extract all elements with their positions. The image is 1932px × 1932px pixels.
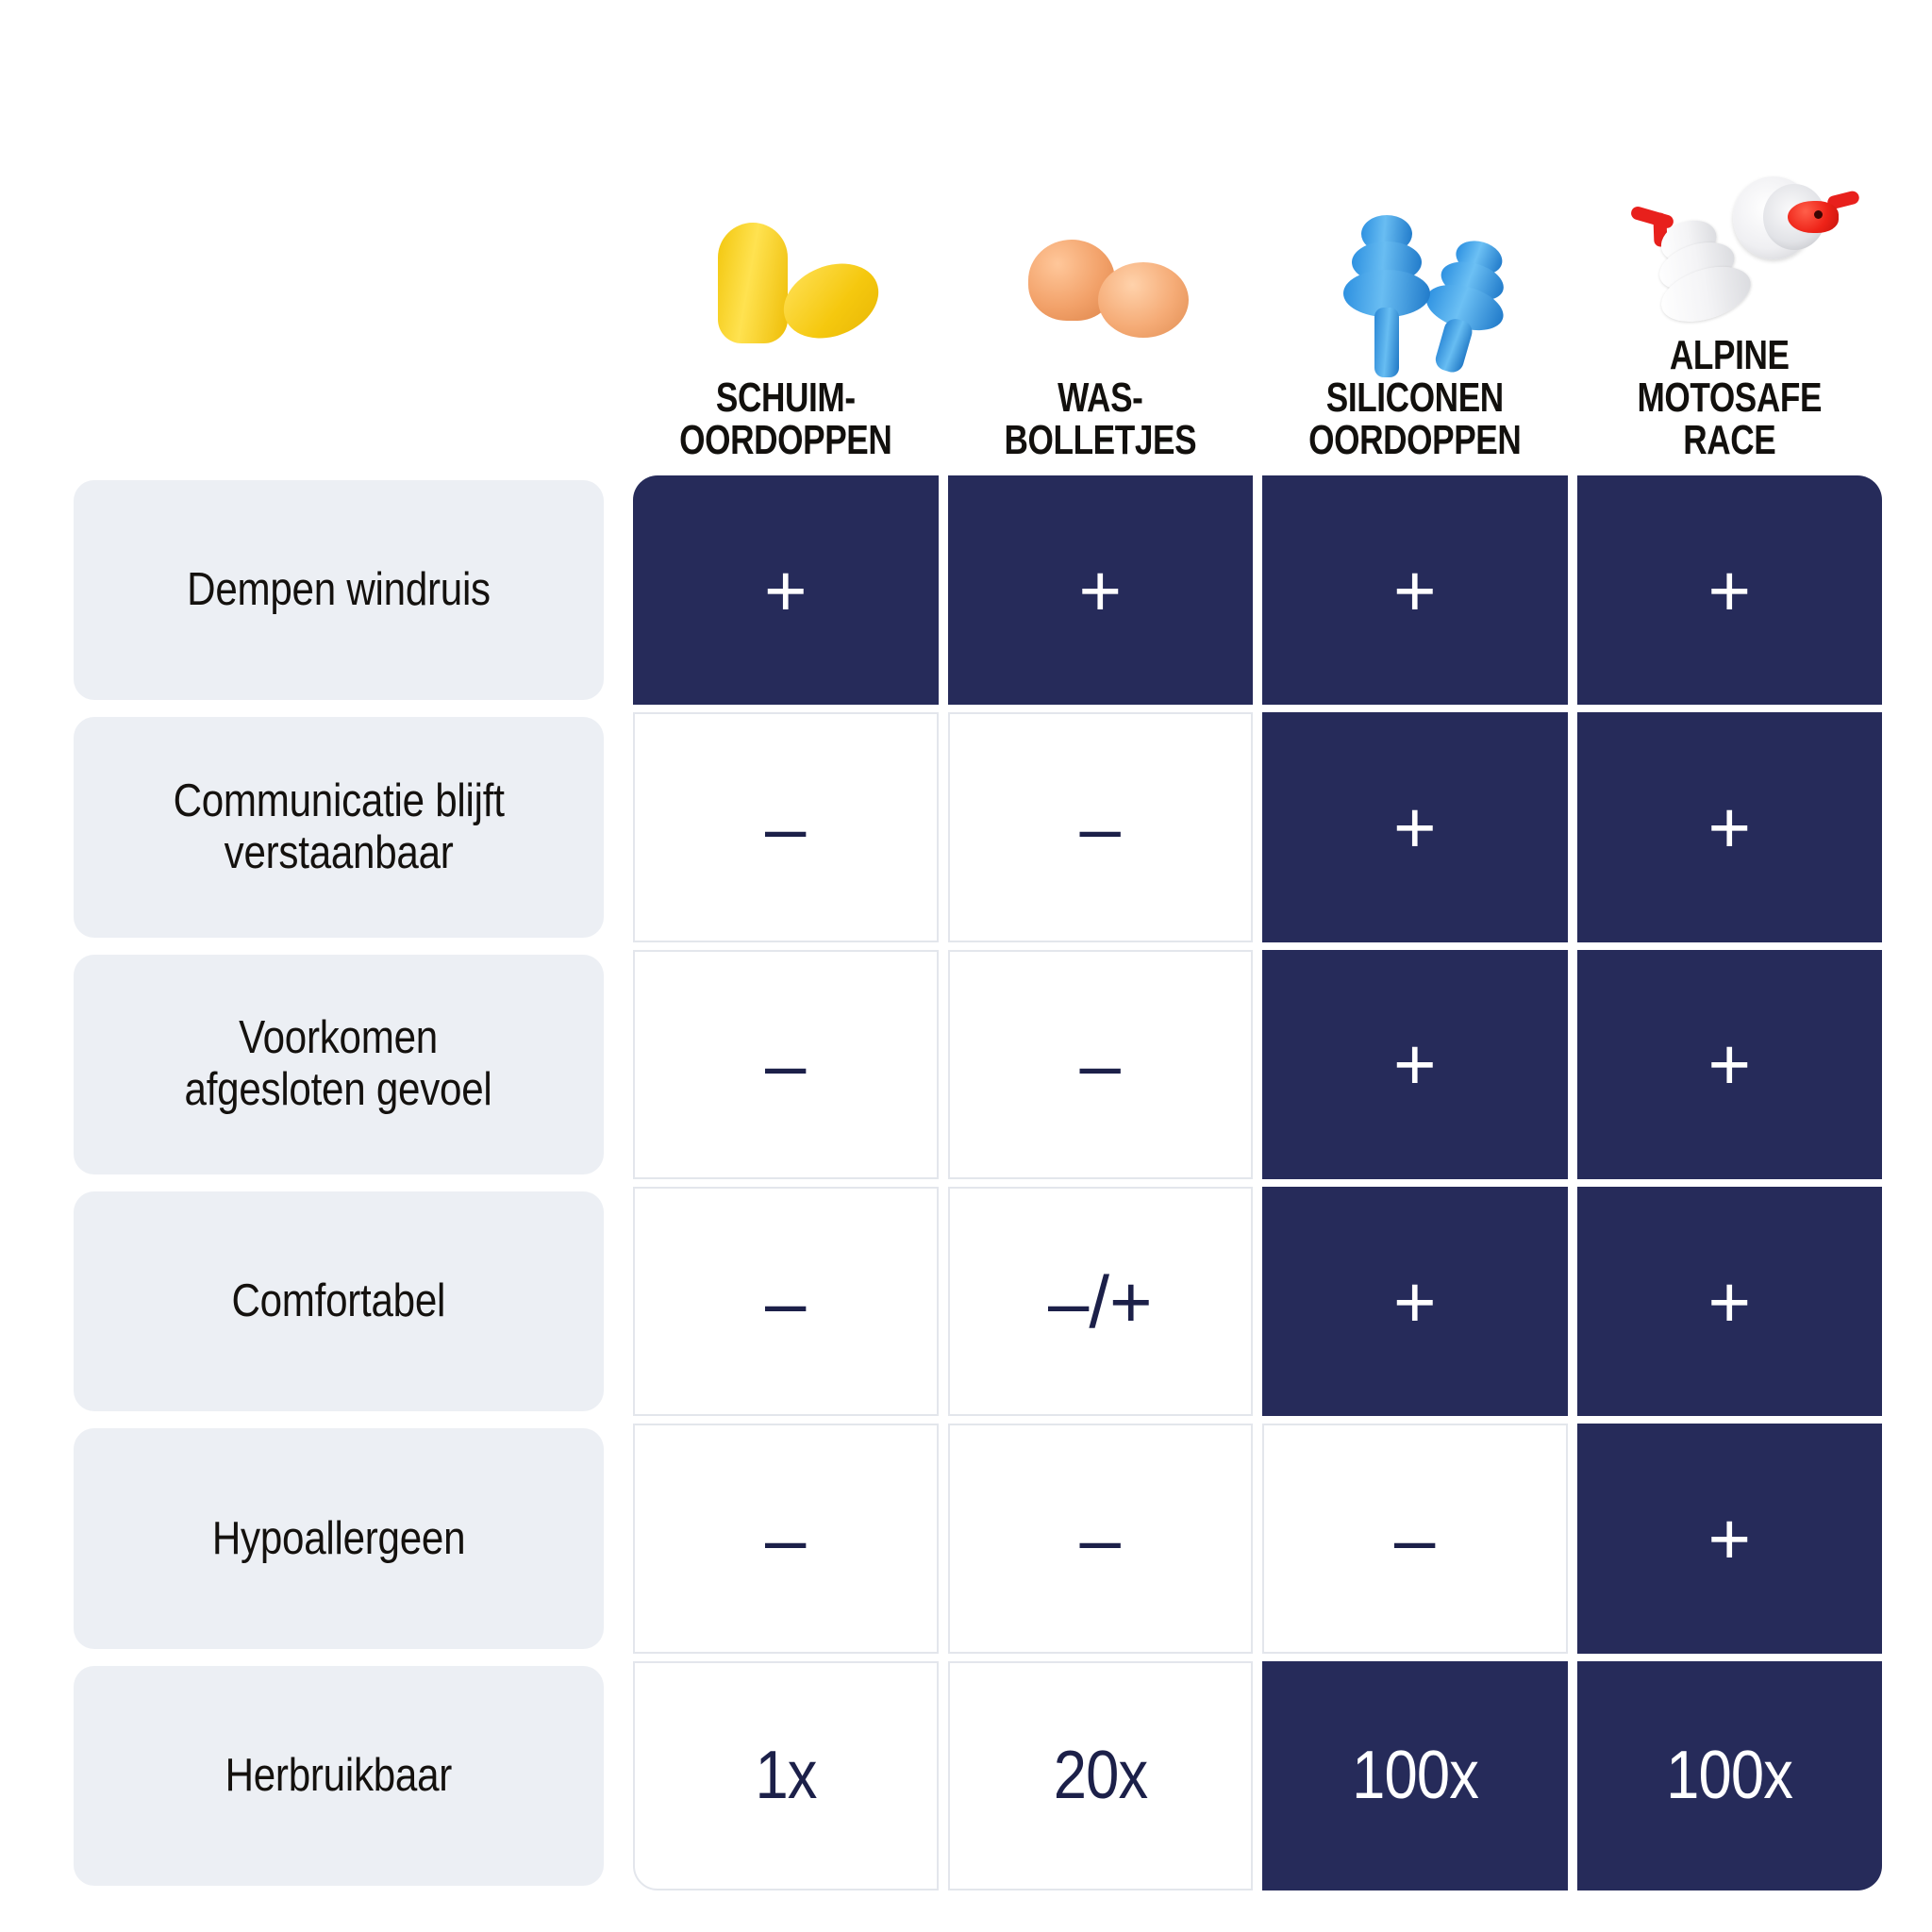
product-title: ALPINE MOTOSAFE RACE — [1637, 335, 1822, 468]
product-header-schuim-oordoppen: SCHUIM- OORDOPPEN — [628, 0, 943, 472]
cell-comfortabel-siliconen-oordoppen: + — [1262, 1187, 1568, 1416]
alpine-motosafe-race-earplugs-image — [1573, 156, 1888, 335]
cell-dempen-windruis-siliconen-oordoppen: + — [1262, 475, 1568, 705]
cell-herbruikbaar-alpine-motosafe-race: 100x — [1577, 1661, 1883, 1890]
product-header-was-bolletjes: WAS- BOLLETJES — [943, 0, 1258, 472]
row-label-hypoallergeen: Hypoallergeen — [74, 1428, 604, 1648]
blue-silicone-earplugs-image — [1257, 198, 1573, 377]
cell-communicatie-was-bolletjes: – — [948, 712, 1254, 941]
cell-hypoallergeen-schuim-oordoppen: – — [633, 1424, 939, 1653]
cell-dempen-windruis-alpine-motosafe-race: + — [1577, 475, 1883, 705]
cell-voorkomen-alpine-motosafe-race: + — [1577, 950, 1883, 1179]
cell-voorkomen-siliconen-oordoppen: + — [1262, 950, 1568, 1179]
yellow-foam-earplugs-image — [628, 198, 943, 377]
cell-hypoallergeen-was-bolletjes: – — [948, 1424, 1254, 1653]
cell-communicatie-schuim-oordoppen: – — [633, 712, 939, 941]
cell-voorkomen-schuim-oordoppen: – — [633, 950, 939, 1179]
cell-comfortabel-was-bolletjes: –/+ — [948, 1187, 1254, 1416]
row-label-herbruikbaar: Herbruikbaar — [74, 1666, 604, 1886]
row-label-dempen-windruis: Dempen windruis — [74, 480, 604, 700]
product-header-alpine-motosafe-race: ALPINE MOTOSAFE RACE — [1573, 0, 1888, 472]
product-title: SILICONEN OORDOPPEN — [1308, 377, 1521, 468]
cell-herbruikbaar-was-bolletjes: 20x — [948, 1661, 1254, 1890]
cell-herbruikbaar-schuim-oordoppen: 1x — [633, 1661, 939, 1890]
cell-communicatie-siliconen-oordoppen: + — [1262, 712, 1568, 941]
cell-dempen-windruis-was-bolletjes: + — [948, 475, 1254, 705]
row-label-voorkomen-afgesloten-gevoel: Voorkomen afgesloten gevoel — [74, 955, 604, 1174]
comparison-table-infographic: SCHUIM- OORDOPPEN WAS- BOLLETJES SILICON… — [0, 0, 1932, 1932]
cell-hypoallergeen-siliconen-oordoppen: – — [1262, 1424, 1568, 1653]
row-label-comfortabel: Comfortabel — [74, 1191, 604, 1411]
cell-voorkomen-was-bolletjes: – — [948, 950, 1254, 1179]
comparison-grid: SCHUIM- OORDOPPEN WAS- BOLLETJES SILICON… — [0, 0, 1932, 1932]
cell-hypoallergeen-alpine-motosafe-race: + — [1577, 1424, 1883, 1653]
product-title: SCHUIM- OORDOPPEN — [679, 377, 891, 468]
row-label-communicatie-blijft-verstaanbaar: Communicatie blijft verstaanbaar — [74, 717, 604, 937]
cell-comfortabel-alpine-motosafe-race: + — [1577, 1187, 1883, 1416]
product-title: WAS- BOLLETJES — [1004, 377, 1196, 468]
orange-wax-balls-image — [943, 198, 1258, 377]
cell-comfortabel-schuim-oordoppen: – — [633, 1187, 939, 1416]
cell-herbruikbaar-siliconen-oordoppen: 100x — [1262, 1661, 1568, 1890]
cell-communicatie-alpine-motosafe-race: + — [1577, 712, 1883, 941]
cell-dempen-windruis-schuim-oordoppen: + — [633, 475, 939, 705]
product-header-siliconen-oordoppen: SILICONEN OORDOPPEN — [1257, 0, 1573, 472]
